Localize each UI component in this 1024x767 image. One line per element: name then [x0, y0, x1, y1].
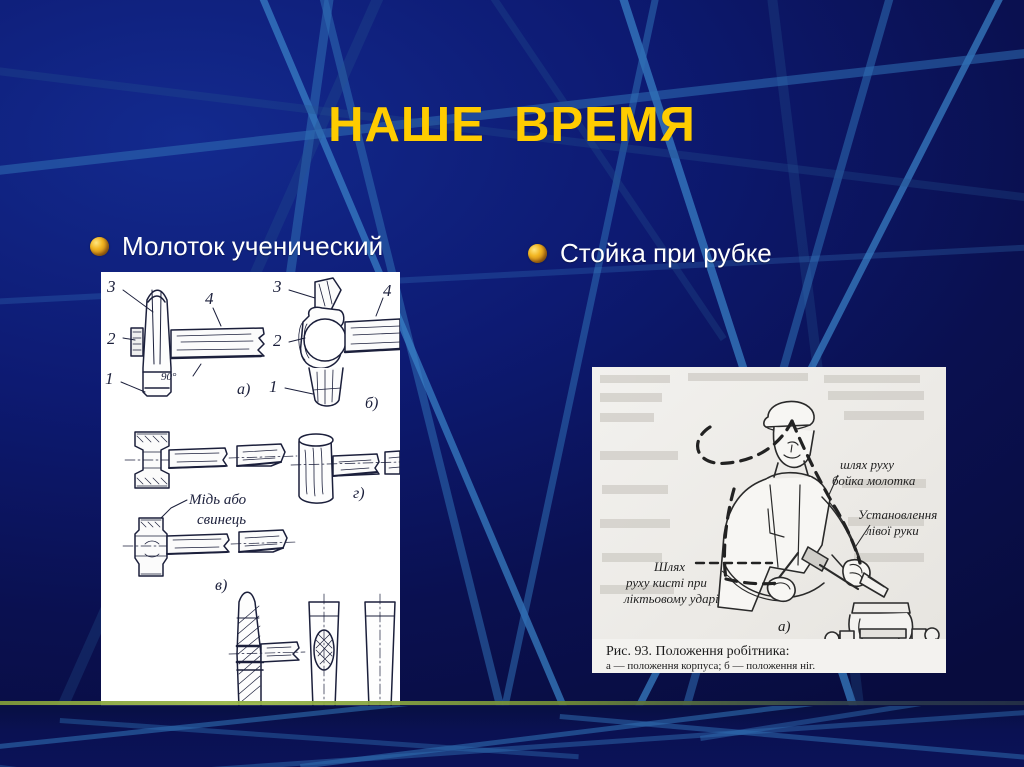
svg-text:4: 4 — [383, 281, 392, 300]
bullet-label-stance: Стойка при рубке — [560, 238, 772, 269]
callout-elbow-line3: ліктьовому ударі — [623, 591, 719, 606]
bullet-label-hammer: Молоток ученический — [122, 231, 383, 262]
callout-hammer-path-line2: бойка молотка — [832, 473, 916, 488]
callout-elbow-line1: Шлях — [653, 559, 685, 574]
gold-sphere-bullet-icon — [528, 244, 547, 263]
slide-title: НАШЕ ВРЕМЯ — [0, 97, 1024, 153]
svg-text:2: 2 — [107, 329, 116, 348]
svg-text:3: 3 — [272, 277, 282, 296]
gold-sphere-bullet-icon — [90, 237, 109, 256]
svg-text:2: 2 — [273, 331, 282, 350]
callout-hammer-path-line1: шлях руху — [840, 457, 894, 472]
worker-sub-label: а) — [778, 619, 791, 635]
figure-caption-title: Рис. 93. Положення робітника: — [606, 644, 790, 659]
material-annotation-line2: свинець — [197, 512, 246, 528]
material-annotation-line1: Мідь або — [188, 492, 247, 508]
bullet-item-stance[interactable]: Стойка при рубке — [528, 238, 772, 269]
worker-drawing-svg: шлях руху бойка молотка Установлення лів… — [592, 367, 946, 673]
svg-text:3: 3 — [106, 277, 116, 296]
figure-caption-sub: а — положення корпуса; б — положення ніг… — [606, 660, 815, 672]
callout-left-hand-line1: Установлення — [858, 507, 937, 522]
figure-hammer-drawing[interactable]: 90° 3 2 1 4 а) — [101, 272, 400, 738]
svg-text:в): в) — [215, 577, 227, 594]
angle-label: 90° — [161, 371, 177, 383]
hammer-drawing-svg: 90° 3 2 1 4 а) — [101, 272, 400, 738]
svg-text:б): б) — [365, 395, 378, 412]
svg-text:4: 4 — [205, 289, 214, 308]
svg-text:1: 1 — [269, 377, 278, 396]
presentation-slide: НАШЕ ВРЕМЯ Молоток ученический Стойка пр… — [0, 0, 1024, 767]
figure-worker-drawing[interactable]: шлях руху бойка молотка Установлення лів… — [592, 367, 946, 673]
slide-footer-band — [0, 706, 1024, 767]
bullet-item-hammer[interactable]: Молоток ученический — [90, 231, 383, 262]
svg-text:а): а) — [237, 381, 250, 398]
callout-elbow-line2: руху кисті при — [625, 575, 707, 590]
svg-text:1: 1 — [105, 369, 114, 388]
svg-text:г): г) — [353, 485, 365, 502]
callout-left-hand-line2: лівої руки — [865, 523, 919, 538]
